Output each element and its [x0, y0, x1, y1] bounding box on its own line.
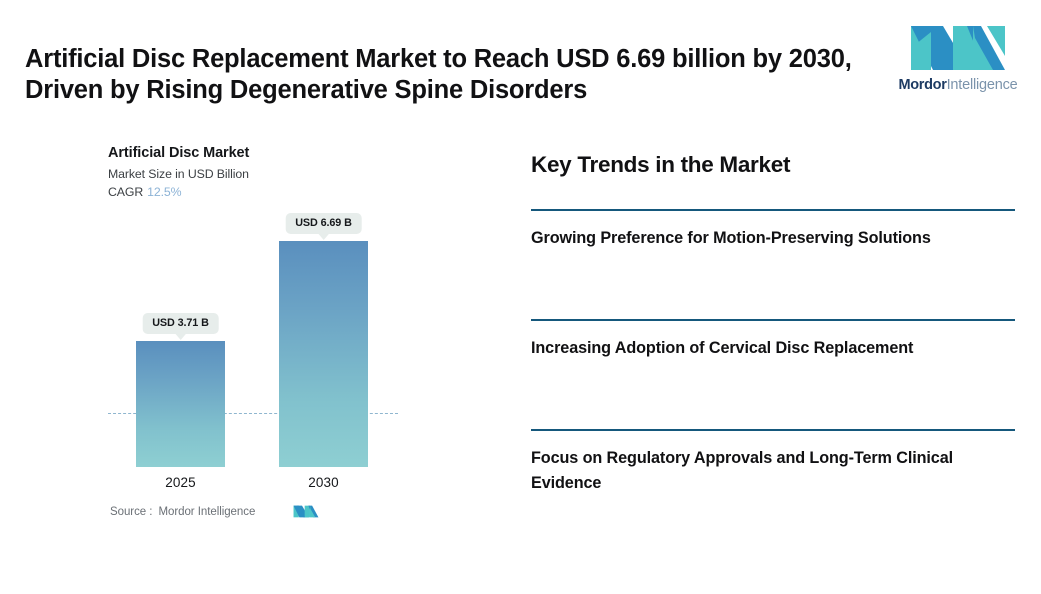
source-label: Source :: [110, 506, 152, 518]
cagr-label: CAGR: [108, 185, 143, 199]
headline-line-1: Artificial Disc Replacement Market to Re…: [25, 44, 875, 75]
chart-title: Artificial Disc Market: [108, 145, 408, 161]
bar-value-label-2025: USD 3.71 B: [142, 313, 219, 334]
brand-wordmark: MordorIntelligence: [898, 78, 1018, 93]
trend-item-text: Growing Preference for Motion-Preserving…: [531, 226, 986, 251]
bar-chart-plot: USD 3.71 B USD 6.69 B 2025 2030: [108, 217, 408, 467]
page-title: Artificial Disc Replacement Market to Re…: [25, 44, 875, 107]
chart-subtitle: Market Size in USD Billion: [108, 167, 408, 181]
x-axis-tick-2025: 2025: [136, 475, 225, 490]
x-axis-tick-2030: 2030: [279, 475, 368, 490]
key-trends-heading: Key Trends in the Market: [531, 153, 1015, 178]
key-trends-panel: Key Trends in the Market Growing Prefere…: [531, 153, 1015, 178]
trend-item: Growing Preference for Motion-Preserving…: [531, 209, 1015, 319]
source-mordor-m-logo-icon: [293, 503, 319, 520]
bar-2025: [136, 341, 225, 467]
mordor-m-logo-icon: [909, 22, 1007, 74]
headline-line-2: Driven by Rising Degenerative Spine Diso…: [25, 75, 875, 106]
infographic-page: Artificial Disc Replacement Market to Re…: [0, 0, 1041, 594]
cagr-value: 12.5%: [147, 185, 181, 199]
chart-panel: Artificial Disc Market Market Size in US…: [108, 145, 408, 530]
chart-source: Source : Mordor Intelligence: [110, 503, 410, 520]
bar-2030: [279, 241, 368, 467]
trend-item-text: Increasing Adoption of Cervical Disc Rep…: [531, 336, 986, 361]
source-name: Mordor Intelligence: [158, 506, 255, 518]
brand-logo: MordorIntelligence: [898, 22, 1018, 102]
trend-item-text: Focus on Regulatory Approvals and Long-T…: [531, 446, 986, 495]
brand-name-bold: Mordor: [898, 77, 946, 93]
trend-item: Increasing Adoption of Cervical Disc Rep…: [531, 319, 1015, 429]
trend-item: Focus on Regulatory Approvals and Long-T…: [531, 429, 1015, 539]
chart-cagr: CAGR12.5%: [108, 185, 408, 199]
bar-value-label-2030: USD 6.69 B: [285, 213, 362, 234]
brand-name-light: Intelligence: [947, 77, 1018, 93]
